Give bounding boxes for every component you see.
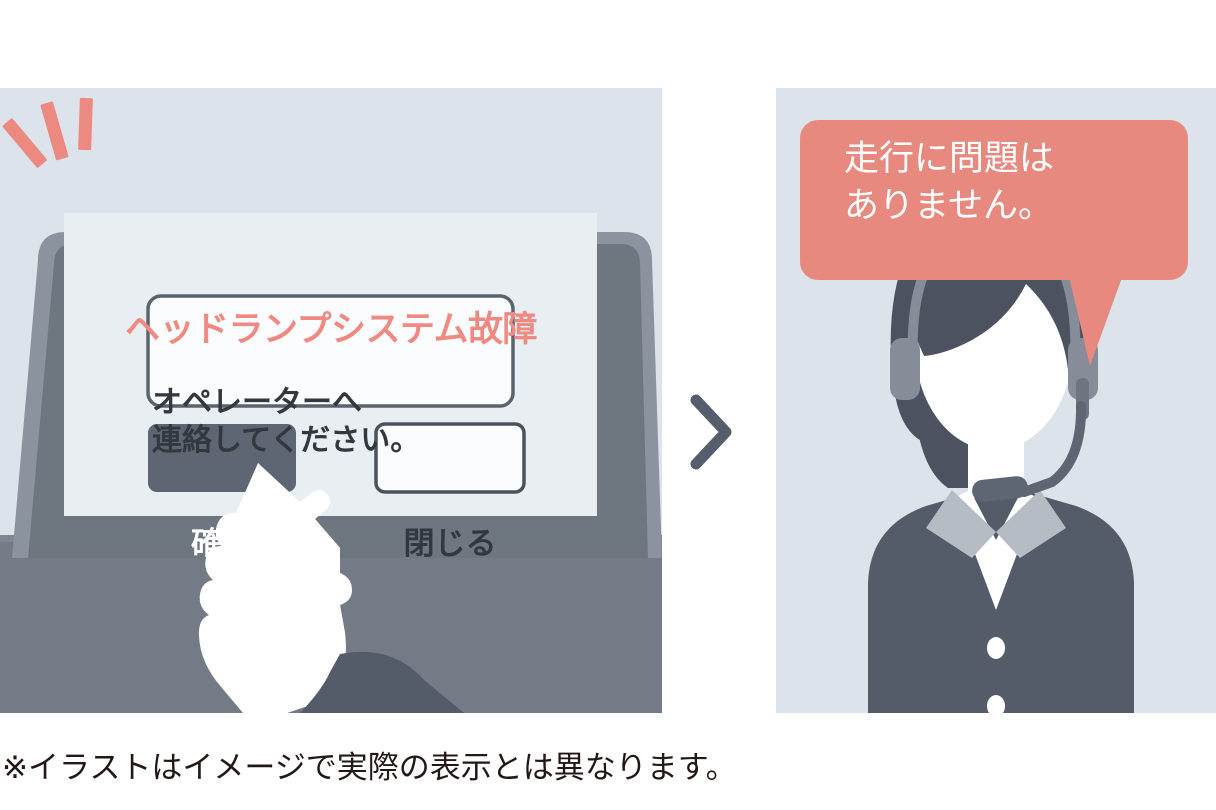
chevron-right-icon [688, 392, 736, 472]
speech-bubble-line1: 走行に問題は [844, 136, 1164, 183]
display-message-line1: オペレーターへ [152, 384, 524, 422]
caption-note: ※イラストはイメージで実際の表示とは異なります。 [2, 742, 737, 787]
close-button-label[interactable]: 閉じる [380, 528, 520, 559]
display-message: オペレーターへ 連絡してください。 [152, 384, 524, 461]
display-message-line2: 連絡してください。 [152, 422, 524, 460]
speech-bubble-text: 走行に問題は ありません。 [844, 136, 1164, 230]
confirm-button-label[interactable]: 確認 [152, 528, 292, 559]
flash-mark-3 [78, 98, 93, 150]
speech-bubble-line2: ありません。 [844, 183, 1164, 230]
jacket-button-1 [987, 637, 1005, 659]
suit-jacket [868, 490, 1134, 713]
headset-earcup-left [890, 338, 920, 400]
display-title: ヘッドランプシステム故障 [66, 312, 596, 347]
left-panel-car-display: ヘッドランプシステム故障 オペレーターへ 連絡してください。 確認 閉じる [0, 88, 662, 713]
illustration-root: ヘッドランプシステム故障 オペレーターへ 連絡してください。 確認 閉じる [0, 0, 1216, 810]
